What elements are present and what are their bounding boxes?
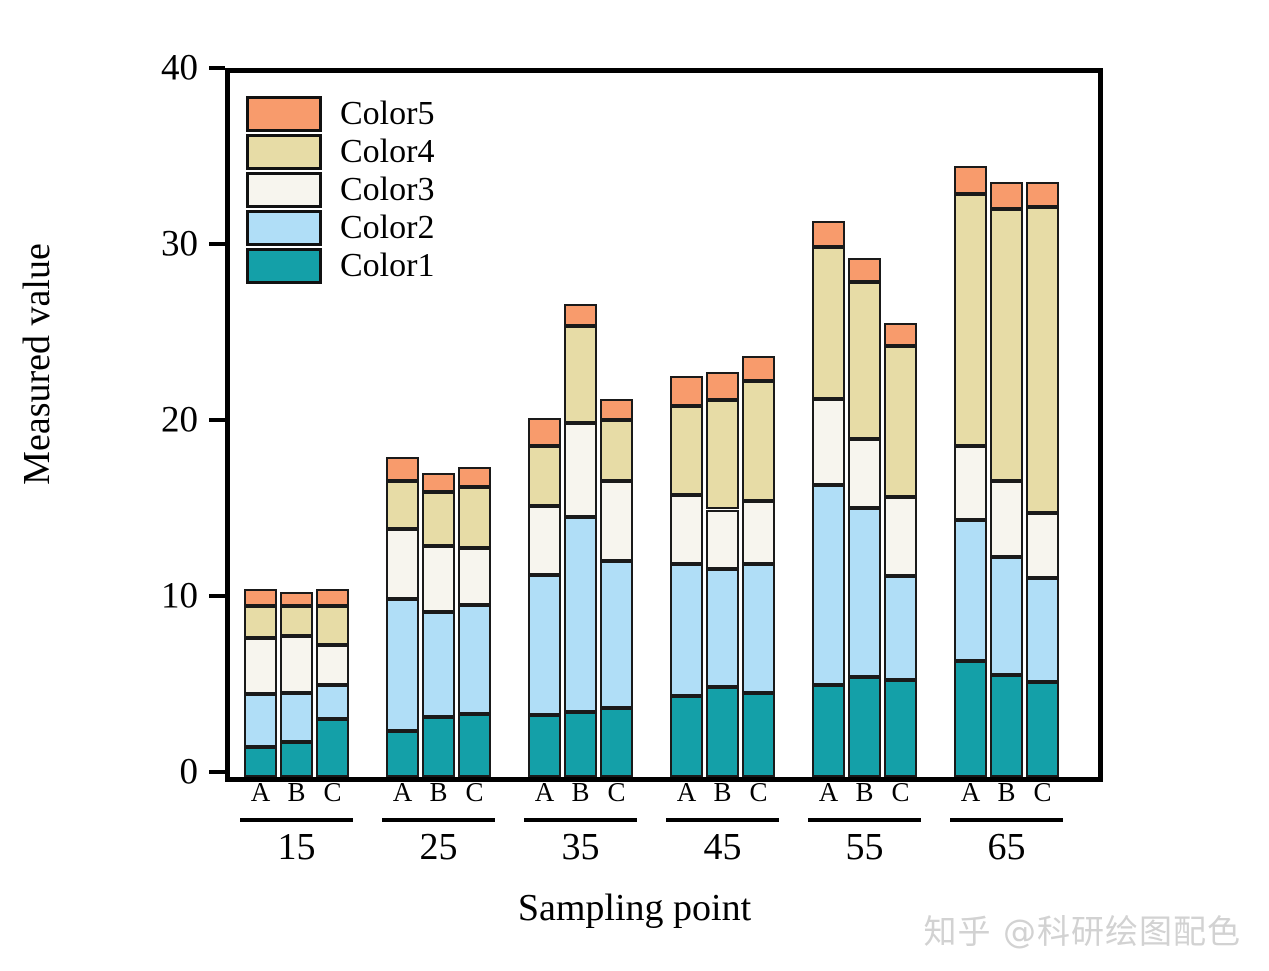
bar-segment-color5 bbox=[670, 376, 703, 406]
bar-segment-color3 bbox=[954, 446, 987, 520]
group-label: 15 bbox=[240, 828, 353, 866]
bar-segment-color2 bbox=[742, 564, 775, 692]
legend-swatch bbox=[246, 172, 322, 208]
x-sub-label: C bbox=[884, 779, 917, 806]
legend-item[interactable]: Color1 bbox=[246, 247, 496, 285]
bar-segment-color3 bbox=[742, 501, 775, 564]
legend-label: Color4 bbox=[340, 135, 434, 169]
bar-segment-color1 bbox=[386, 731, 419, 777]
legend-label: Color3 bbox=[340, 173, 434, 207]
bar-segment-color1 bbox=[884, 680, 917, 777]
legend: Color5Color4Color3Color2Color1 bbox=[246, 95, 496, 285]
bar-segment-color5 bbox=[244, 589, 277, 607]
bar-segment-color4 bbox=[422, 492, 455, 547]
bar-segment-color1 bbox=[458, 714, 491, 777]
bar-segment-color4 bbox=[742, 381, 775, 501]
group-rule bbox=[808, 818, 921, 822]
x-sub-label: C bbox=[316, 779, 349, 806]
bar-segment-color1 bbox=[990, 675, 1023, 777]
stacked-bar bbox=[848, 73, 881, 777]
bar-segment-color1 bbox=[1026, 682, 1059, 777]
bar-segment-color3 bbox=[280, 636, 313, 692]
group-label: 35 bbox=[524, 828, 637, 866]
legend-swatch bbox=[246, 96, 322, 132]
legend-swatch bbox=[246, 134, 322, 170]
group-rule bbox=[950, 818, 1063, 822]
bar-segment-color3 bbox=[1026, 513, 1059, 578]
x-sub-label: A bbox=[386, 779, 419, 806]
bar-segment-color1 bbox=[316, 719, 349, 777]
watermark: 知乎 @科研绘图配色 bbox=[924, 905, 1242, 953]
bar-segment-color2 bbox=[316, 685, 349, 718]
bar-segment-color2 bbox=[600, 561, 633, 709]
bar-segment-color5 bbox=[422, 473, 455, 492]
bar-segment-color5 bbox=[564, 304, 597, 327]
bar-segment-color4 bbox=[706, 400, 739, 509]
y-tick-mark bbox=[209, 594, 225, 598]
bar-segment-color4 bbox=[848, 282, 881, 439]
bar-segment-color5 bbox=[990, 182, 1023, 208]
bar-segment-color4 bbox=[244, 606, 277, 638]
bar-segment-color5 bbox=[848, 258, 881, 283]
bar-segment-color4 bbox=[386, 481, 419, 529]
x-sub-label: C bbox=[458, 779, 491, 806]
bar-segment-color3 bbox=[458, 548, 491, 604]
bar-segment-color4 bbox=[528, 446, 561, 506]
x-sub-label: C bbox=[1026, 779, 1059, 806]
legend-item[interactable]: Color3 bbox=[246, 171, 496, 209]
bar-segment-color3 bbox=[564, 423, 597, 516]
bar-segment-color5 bbox=[528, 418, 561, 446]
x-axis-group-labels: 152535455565 bbox=[230, 818, 1098, 878]
y-tick-mark bbox=[209, 242, 225, 246]
x-sub-label: B bbox=[280, 779, 313, 806]
x-sub-label: B bbox=[422, 779, 455, 806]
stacked-bar bbox=[884, 73, 917, 777]
bar-segment-color3 bbox=[884, 497, 917, 576]
x-sub-label: A bbox=[954, 779, 987, 806]
bar-segment-color1 bbox=[848, 677, 881, 777]
bar-segment-color2 bbox=[528, 575, 561, 716]
bar-segment-color5 bbox=[386, 457, 419, 482]
bar-segment-color5 bbox=[884, 323, 917, 346]
x-sub-label: C bbox=[600, 779, 633, 806]
stacked-bar bbox=[564, 73, 597, 777]
stacked-bar bbox=[528, 73, 561, 777]
bar-segment-color1 bbox=[528, 715, 561, 777]
group-rule bbox=[524, 818, 637, 822]
bar-segment-color2 bbox=[884, 576, 917, 680]
bar-segment-color1 bbox=[244, 747, 277, 777]
bar-segment-color2 bbox=[1026, 578, 1059, 682]
x-sub-label: B bbox=[990, 779, 1023, 806]
bar-segment-color5 bbox=[458, 467, 491, 486]
legend-item[interactable]: Color4 bbox=[246, 133, 496, 171]
bar-segment-color4 bbox=[600, 420, 633, 482]
x-sub-label: B bbox=[848, 779, 881, 806]
bar-segment-color3 bbox=[528, 506, 561, 575]
x-sub-label: A bbox=[670, 779, 703, 806]
group-rule bbox=[240, 818, 353, 822]
legend-swatch bbox=[246, 210, 322, 246]
bar-segment-color1 bbox=[600, 708, 633, 777]
bar-segment-color1 bbox=[280, 742, 313, 777]
stacked-bar bbox=[742, 73, 775, 777]
bar-segment-color3 bbox=[422, 546, 455, 611]
bar-segment-color3 bbox=[386, 529, 419, 599]
stacked-bar bbox=[812, 73, 845, 777]
stacked-bar bbox=[600, 73, 633, 777]
bar-segment-color2 bbox=[706, 569, 739, 687]
x-axis-sub-labels: ABCABCABCABCABCABC bbox=[230, 779, 1098, 819]
bar-segment-color4 bbox=[954, 194, 987, 446]
y-tick-label: 10 bbox=[161, 578, 198, 615]
bar-segment-color3 bbox=[990, 481, 1023, 557]
bar-segment-color4 bbox=[670, 406, 703, 496]
chart-figure: 010203040 Measured value ABCABCABCABCABC… bbox=[0, 0, 1269, 971]
x-sub-label: B bbox=[706, 779, 739, 806]
y-tick-mark bbox=[209, 770, 225, 774]
legend-item[interactable]: Color2 bbox=[246, 209, 496, 247]
bar-segment-color5 bbox=[316, 589, 349, 607]
legend-label: Color1 bbox=[340, 249, 434, 283]
bar-segment-color2 bbox=[458, 605, 491, 714]
bar-segment-color2 bbox=[564, 517, 597, 712]
y-tick-label: 30 bbox=[161, 226, 198, 263]
y-axis-ticks bbox=[225, 68, 226, 772]
y-tick-label: 40 bbox=[161, 50, 198, 87]
y-tick-label: 20 bbox=[161, 402, 198, 439]
x-sub-label: A bbox=[528, 779, 561, 806]
bar-segment-color1 bbox=[954, 661, 987, 777]
bar-segment-color2 bbox=[386, 599, 419, 731]
stacked-bar bbox=[670, 73, 703, 777]
bar-segment-color5 bbox=[954, 166, 987, 194]
bar-segment-color3 bbox=[670, 495, 703, 564]
y-tick-label: 0 bbox=[180, 754, 199, 791]
bar-segment-color3 bbox=[812, 399, 845, 485]
group-label: 45 bbox=[666, 828, 779, 866]
bar-segment-color3 bbox=[706, 510, 739, 570]
bar-segment-color2 bbox=[954, 520, 987, 661]
group-label: 55 bbox=[808, 828, 921, 866]
bar-segment-color5 bbox=[1026, 182, 1059, 207]
bar-segment-color4 bbox=[1026, 207, 1059, 513]
group-rule bbox=[666, 818, 779, 822]
bar-segment-color4 bbox=[458, 487, 491, 549]
group-rule bbox=[382, 818, 495, 822]
y-axis-tick-labels: 010203040 bbox=[120, 68, 198, 772]
bar-segment-color2 bbox=[848, 508, 881, 677]
y-tick-mark bbox=[209, 418, 225, 422]
x-sub-label: C bbox=[742, 779, 775, 806]
bar-segment-color2 bbox=[670, 564, 703, 696]
bar-segment-color1 bbox=[812, 685, 845, 777]
group-label: 65 bbox=[950, 828, 1063, 866]
bar-segment-color4 bbox=[280, 606, 313, 636]
bar-segment-color5 bbox=[600, 399, 633, 420]
bar-segment-color4 bbox=[884, 346, 917, 497]
legend-item[interactable]: Color5 bbox=[246, 95, 496, 133]
bar-segment-color1 bbox=[706, 687, 739, 777]
x-sub-label: B bbox=[564, 779, 597, 806]
bar-segment-color1 bbox=[742, 693, 775, 777]
group-label: 25 bbox=[382, 828, 495, 866]
bar-segment-color2 bbox=[990, 557, 1023, 675]
bar-segment-color4 bbox=[316, 606, 349, 645]
bar-segment-color2 bbox=[280, 693, 313, 742]
bar-segment-color3 bbox=[316, 645, 349, 685]
bar-segment-color4 bbox=[990, 209, 1023, 482]
legend-swatch bbox=[246, 248, 322, 284]
stacked-bar bbox=[954, 73, 987, 777]
bar-segment-color3 bbox=[244, 638, 277, 694]
bar-segment-color2 bbox=[812, 485, 845, 686]
bar-segment-color1 bbox=[564, 712, 597, 777]
bar-segment-color1 bbox=[422, 717, 455, 777]
x-sub-label: A bbox=[812, 779, 845, 806]
y-axis-title: Measured value bbox=[15, 154, 59, 574]
x-sub-label: A bbox=[244, 779, 277, 806]
bar-segment-color5 bbox=[742, 356, 775, 381]
bar-segment-color5 bbox=[812, 221, 845, 247]
y-tick-mark bbox=[209, 66, 225, 70]
bar-segment-color1 bbox=[670, 696, 703, 777]
bar-segment-color3 bbox=[600, 481, 633, 560]
bar-segment-color3 bbox=[848, 439, 881, 508]
bar-segment-color5 bbox=[280, 592, 313, 606]
bar-segment-color5 bbox=[706, 372, 739, 400]
bar-segment-color4 bbox=[812, 247, 845, 398]
stacked-bar bbox=[1026, 73, 1059, 777]
legend-label: Color2 bbox=[340, 211, 434, 245]
legend-label: Color5 bbox=[340, 97, 434, 131]
stacked-bar bbox=[706, 73, 739, 777]
bar-segment-color4 bbox=[564, 326, 597, 423]
bar-segment-color2 bbox=[244, 694, 277, 747]
stacked-bar bbox=[990, 73, 1023, 777]
bar-segment-color2 bbox=[422, 612, 455, 718]
